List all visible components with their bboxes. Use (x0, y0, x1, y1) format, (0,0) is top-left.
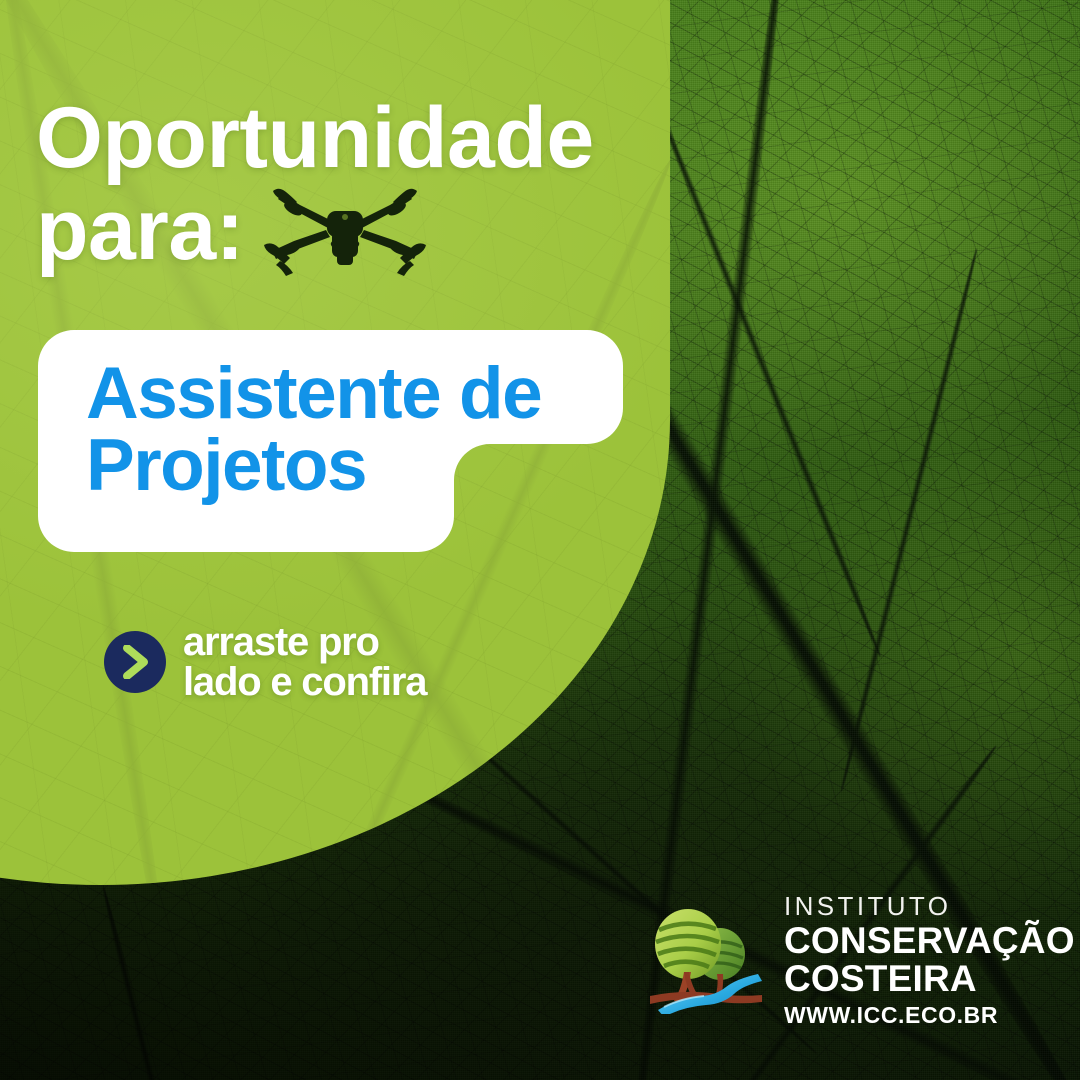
logo-website[interactable]: WWW.ICC.ECO.BR (784, 1004, 1075, 1027)
headline-line-1: Oportunidade (36, 96, 594, 181)
role-card: Assistente de Projetos (38, 330, 623, 552)
role-title-line-2: Projetos (86, 430, 541, 502)
swipe-cta[interactable]: arraste pro lado e confira (104, 622, 426, 702)
swipe-label: arraste pro lado e confira (183, 622, 426, 702)
headline-line-2-row: para: (36, 181, 594, 279)
swipe-label-line-2: lado e confira (183, 660, 426, 704)
chevron-right-icon[interactable] (104, 631, 166, 693)
headline-line-2: para: (36, 188, 244, 273)
drone-quadcopter-icon (260, 181, 430, 279)
swipe-label-line-1: arraste pro (183, 620, 379, 664)
logo-wordmark: INSTITUTO CONSERVAÇÃO COSTEIRA WWW.ICC.E… (784, 893, 1075, 1027)
logo-line-costeira: COSTEIRA (784, 960, 1075, 997)
role-title-line-1: Assistente de (86, 358, 541, 430)
logo-lockup: INSTITUTO CONSERVAÇÃO COSTEIRA WWW.ICC.E… (648, 893, 1075, 1027)
logo-line-conservacao: CONSERVAÇÃO (784, 922, 1075, 959)
social-post-canvas: Oportunidade para: (0, 0, 1080, 1080)
trees-and-river-logo-icon (648, 902, 766, 1019)
headline: Oportunidade para: (36, 96, 594, 279)
role-title: Assistente de Projetos (86, 358, 541, 501)
logo-line-instituto: INSTITUTO (784, 893, 1075, 919)
